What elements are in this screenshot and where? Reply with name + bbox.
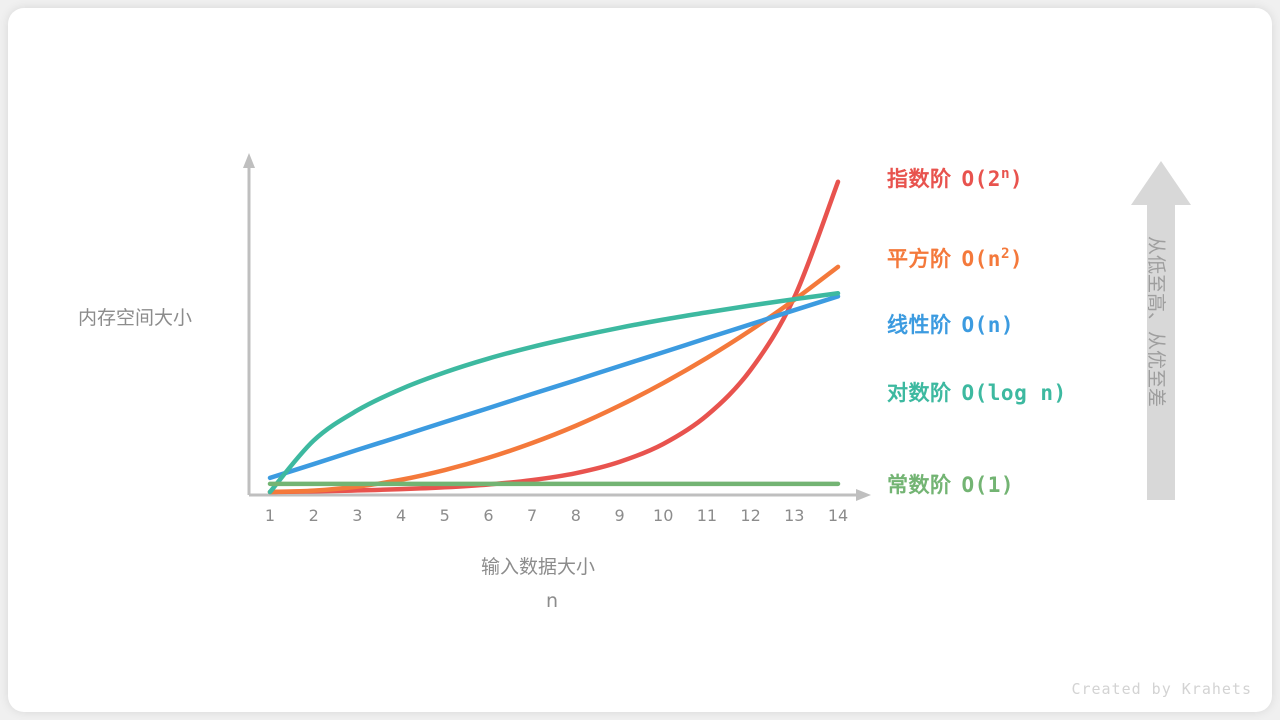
legend-item-2[interactable]: 线性阶O(n): [887, 309, 1014, 339]
chart-stage: 从低至高、从优至差 内存空间大小 输入数据大小 n 12345678910111…: [0, 0, 1280, 720]
x-tick-label: 5: [430, 506, 460, 525]
x-tick-label: 1: [255, 506, 285, 525]
x-tick-label: 12: [736, 506, 766, 525]
x-tick-label: 8: [561, 506, 591, 525]
x-tick-label: 6: [473, 506, 503, 525]
x-tick-label: 13: [779, 506, 809, 525]
legend-notation: O(1): [962, 473, 1015, 497]
legend-label: 线性阶: [887, 313, 952, 337]
ranking-arrow-label: 从低至高、从优至差: [1144, 236, 1171, 407]
legend-label: 常数阶: [887, 473, 952, 497]
x-axis-sublabel: n: [546, 590, 558, 612]
legend-notation: O(2n): [962, 167, 1024, 191]
legend-notation: O(log n): [962, 381, 1067, 405]
x-tick-label: 3: [342, 506, 372, 525]
x-tick-label: 14: [823, 506, 853, 525]
x-tick-label: 10: [648, 506, 678, 525]
legend-item-1[interactable]: 平方阶O(n2): [887, 243, 1023, 273]
legend-item-4[interactable]: 常数阶O(1): [887, 469, 1014, 499]
x-tick-label: 2: [299, 506, 329, 525]
legend-notation: O(n2): [962, 247, 1024, 271]
x-axis-title: 输入数据大小: [481, 552, 595, 579]
legend-notation-exponent: n: [1001, 166, 1010, 182]
legend-notation: O(n): [962, 313, 1015, 337]
credit-text: Created by Krahets: [1071, 680, 1252, 698]
x-tick-label: 7: [517, 506, 547, 525]
x-tick-label: 11: [692, 506, 722, 525]
legend-label: 平方阶: [887, 247, 952, 271]
y-axis-title: 内存空间大小: [78, 303, 192, 330]
ranking-arrow: [0, 0, 1280, 720]
legend-label: 指数阶: [887, 167, 952, 191]
x-tick-label: 9: [605, 506, 635, 525]
x-tick-label: 4: [386, 506, 416, 525]
legend-notation-exponent: 2: [1001, 246, 1010, 262]
legend-item-3[interactable]: 对数阶O(log n): [887, 377, 1067, 407]
legend-item-0[interactable]: 指数阶O(2n): [887, 163, 1023, 193]
legend-label: 对数阶: [887, 381, 952, 405]
